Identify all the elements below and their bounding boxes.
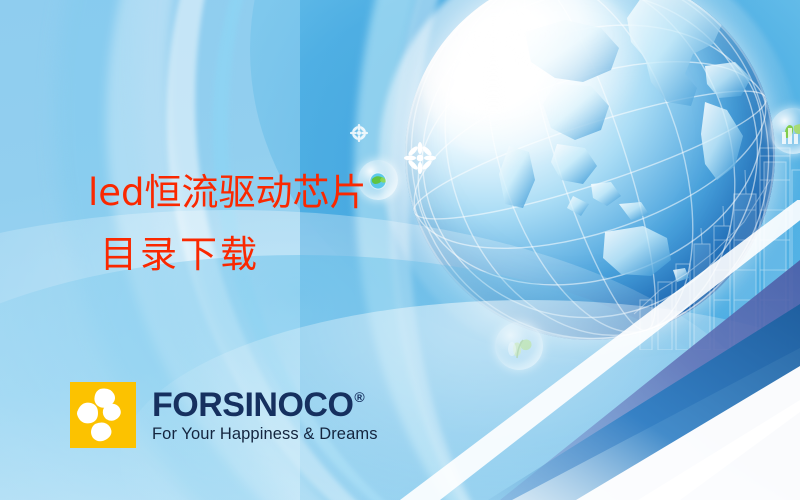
brand-wordmark: FORSINOCO ®: [152, 388, 378, 422]
brand-logo-text: FORSINOCO ® For Your Happiness & Dreams: [152, 388, 378, 443]
promo-banner: led恒流驱动芯片 目录下载 FORSINOCO ® For Your Happ…: [0, 0, 800, 500]
four-petal-pinwheel-icon: [70, 382, 136, 448]
headline-line-1: led恒流驱动芯片: [88, 162, 367, 224]
brand-wordmark-text: FORSINOCO: [152, 388, 353, 422]
sparkle-asterisk-icon: [404, 142, 436, 174]
diagonal-band-icon: [380, 200, 800, 500]
registered-trademark-icon: ®: [354, 390, 364, 404]
bubble-city-icon: [770, 108, 800, 154]
brand-logo[interactable]: FORSINOCO ® For Your Happiness & Dreams: [70, 382, 378, 448]
headline-line-2: 目录下载: [100, 224, 367, 286]
sparkle-asterisk-icon: [350, 124, 368, 142]
brand-tagline: For Your Happiness & Dreams: [152, 425, 378, 443]
page-title: led恒流驱动芯片 目录下载: [88, 162, 367, 286]
